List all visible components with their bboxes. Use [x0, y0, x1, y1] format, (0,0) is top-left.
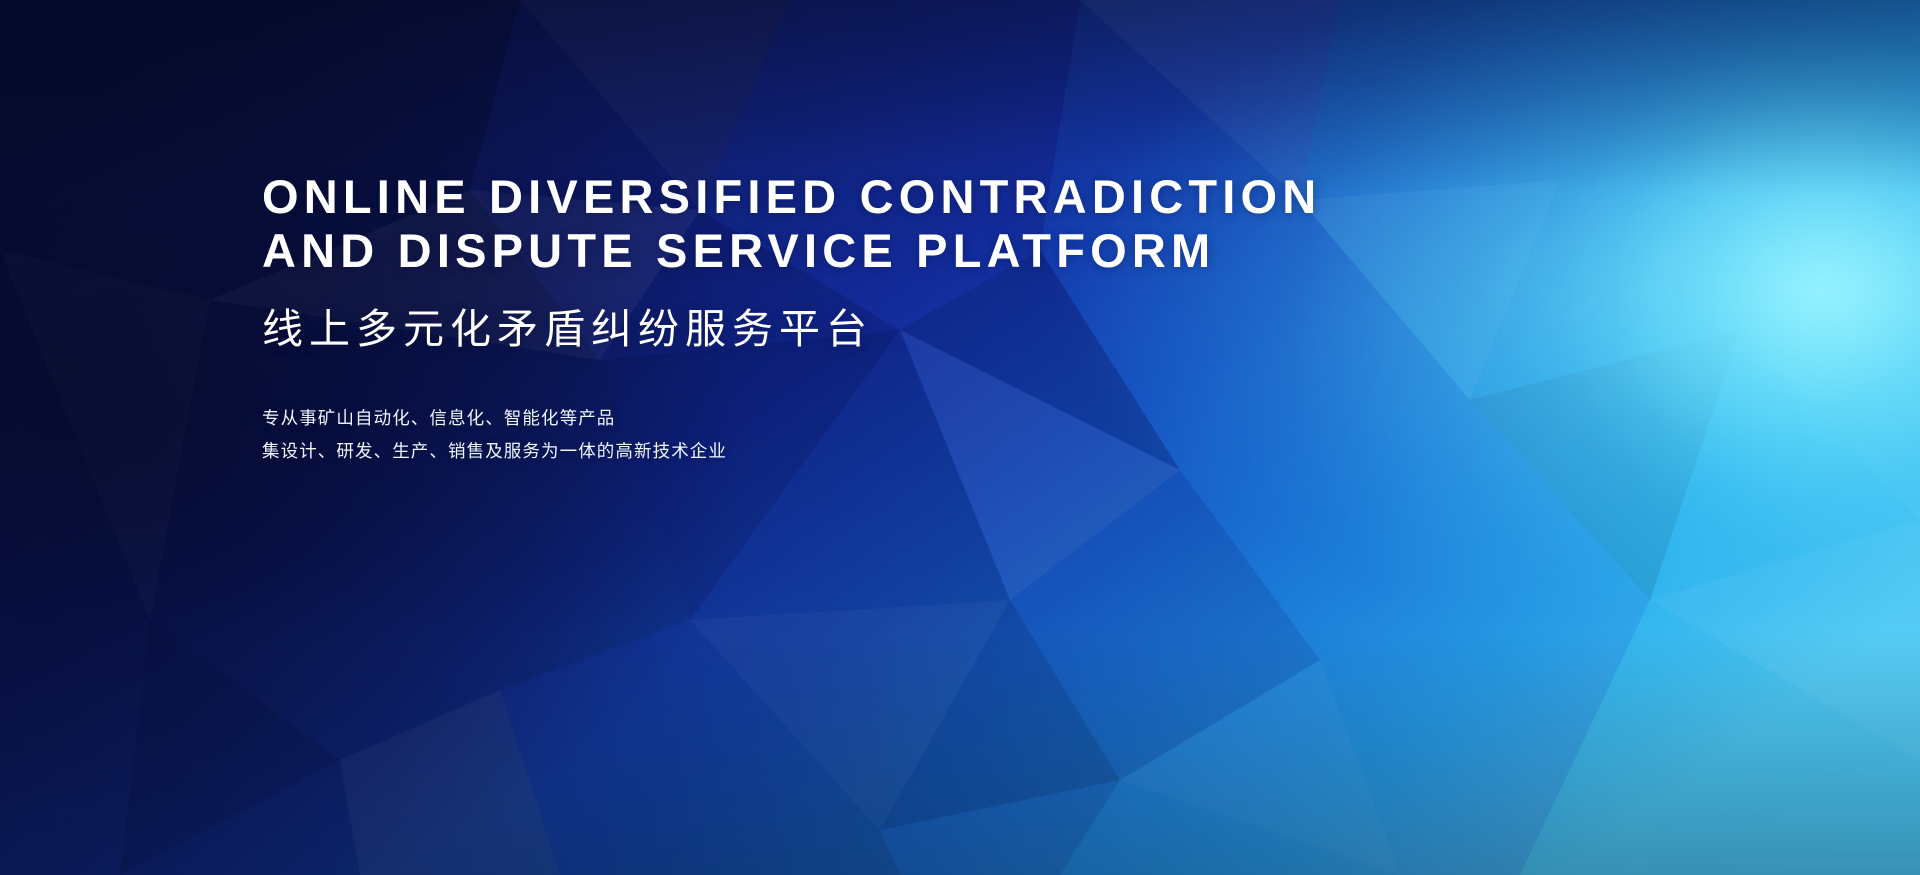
banner-description: 专从事矿山自动化、信息化、智能化等产品 集设计、研发、生产、销售及服务为一体的高… — [262, 402, 1462, 468]
banner-content: ONLINE DIVERSIFIED CONTRADICTION AND DIS… — [262, 170, 1462, 468]
banner-title-en-line1: ONLINE DIVERSIFIED CONTRADICTION — [262, 170, 1462, 224]
banner-description-line-2: 集设计、研发、生产、销售及服务为一体的高新技术企业 — [262, 435, 1462, 468]
hero-banner: ONLINE DIVERSIFIED CONTRADICTION AND DIS… — [0, 0, 1920, 875]
banner-description-line-1: 专从事矿山自动化、信息化、智能化等产品 — [262, 402, 1462, 435]
banner-title-en-line2: AND DISPUTE SERVICE PLATFORM — [262, 224, 1462, 278]
banner-title-cn: 线上多元化矛盾纠纷服务平台 — [262, 304, 1462, 354]
